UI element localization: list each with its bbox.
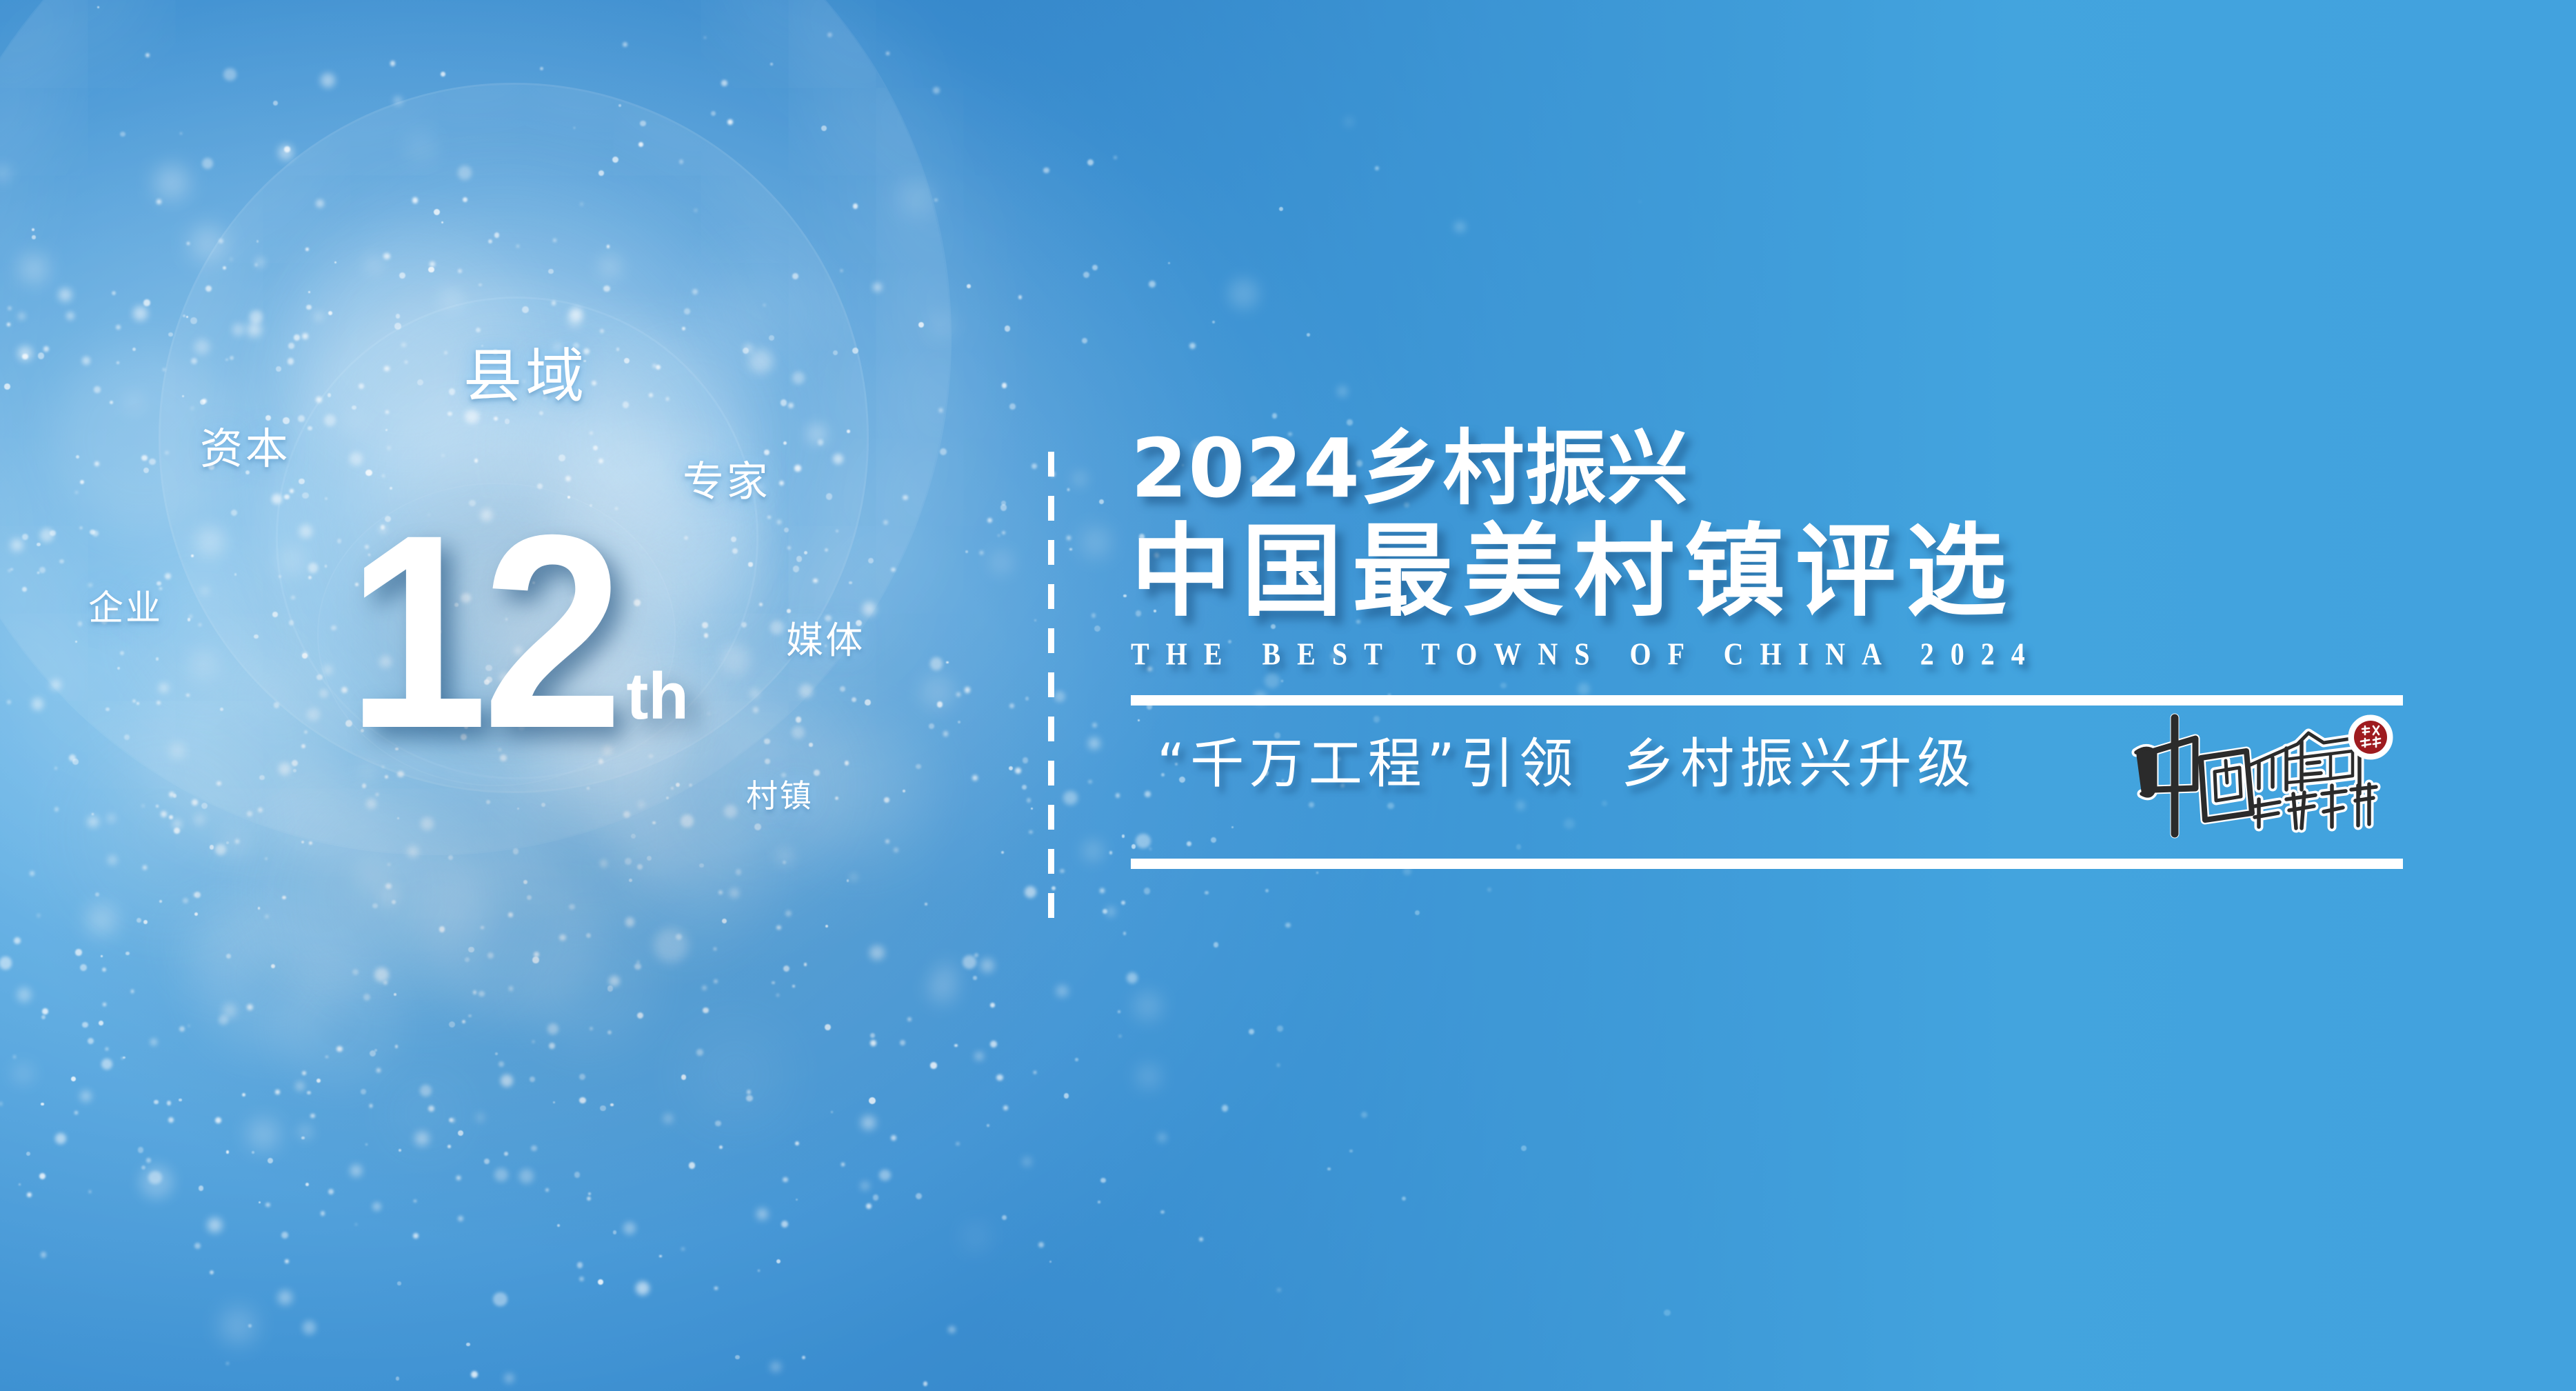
headline-year-theme: 2024乡村振兴 xyxy=(1131,428,2427,509)
tagline-part-two: 乡村振兴升级 xyxy=(1621,733,1976,795)
english-subtitle: THE BEST TOWNS OF CHINA 2024 xyxy=(1131,639,2427,670)
tag-capital: 资本 xyxy=(200,414,290,476)
tagline-part-one: “千万工程”引领 xyxy=(1157,733,1578,795)
brand-logo-svg xyxy=(2124,703,2399,848)
tag-county: 县域 xyxy=(463,329,587,414)
tag-expert: 专家 xyxy=(683,448,770,508)
poster-canvas: 县域 资本 专家 企业 媒体 村镇 12 th 2024乡村振兴 中国最美村镇评… xyxy=(0,0,2576,1391)
tag-media: 媒体 xyxy=(786,610,865,664)
tagline: “千万工程”引领乡村振兴升级 xyxy=(1157,737,1976,791)
logo-seal-icon xyxy=(2353,719,2388,755)
title-panel: 2024乡村振兴 中国最美村镇评选 THE BEST TOWNS OF CHIN… xyxy=(1131,428,2427,869)
tag-township: 村镇 xyxy=(746,771,814,817)
vertical-dashed-divider xyxy=(1048,452,1054,934)
rule-below-tagline xyxy=(1131,859,2403,869)
edition-ordinal: th xyxy=(626,663,689,730)
left-emblem-panel: 县域 资本 专家 企业 媒体 村镇 12 th xyxy=(0,0,1076,1391)
edition-number-block: 12 th xyxy=(347,524,689,739)
headline-main-title: 中国最美村镇评选 xyxy=(1131,521,2427,622)
tag-enterprise: 企业 xyxy=(88,579,163,630)
edition-number: 12 xyxy=(347,524,618,739)
tagline-row: “千万工程”引领乡村振兴升级 xyxy=(1131,705,2403,859)
brand-logo xyxy=(2124,703,2399,848)
